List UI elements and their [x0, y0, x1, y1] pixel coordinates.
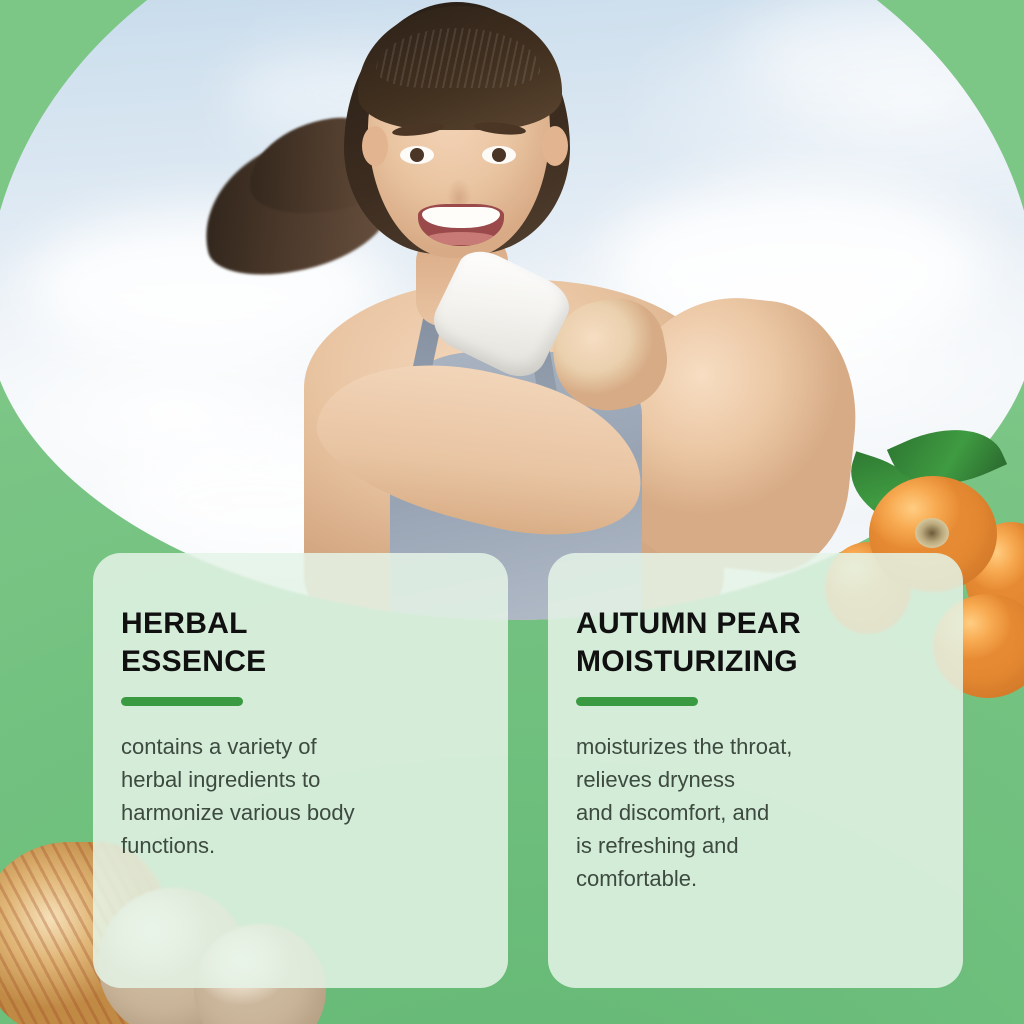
- promo-poster: HERBAL ESSENCE contains a variety of her…: [0, 0, 1024, 1024]
- card-title: HERBAL ESSENCE: [121, 605, 474, 681]
- accent-bar: [576, 697, 698, 706]
- eye-left: [400, 146, 434, 164]
- benefit-card-autumn-pear-moisturizing[interactable]: AUTUMN PEAR MOISTURIZING moisturizes the…: [548, 553, 963, 988]
- lower-lip: [426, 232, 496, 245]
- card-body-text: contains a variety of herbal ingredients…: [121, 730, 474, 862]
- eye-right: [482, 146, 516, 164]
- ear-right: [542, 126, 568, 166]
- ear-left: [362, 126, 388, 166]
- benefit-card-herbal-essence[interactable]: HERBAL ESSENCE contains a variety of her…: [93, 553, 508, 988]
- card-title: AUTUMN PEAR MOISTURIZING: [576, 605, 929, 681]
- accent-bar: [121, 697, 243, 706]
- card-body-text: moisturizes the throat, relieves dryness…: [576, 730, 929, 895]
- teeth: [422, 207, 500, 228]
- benefit-cards: HERBAL ESSENCE contains a variety of her…: [93, 553, 963, 988]
- loquat-calyx: [915, 518, 949, 548]
- hair-top: [358, 6, 562, 130]
- nose: [444, 166, 474, 206]
- smiling-mouth: [418, 204, 504, 246]
